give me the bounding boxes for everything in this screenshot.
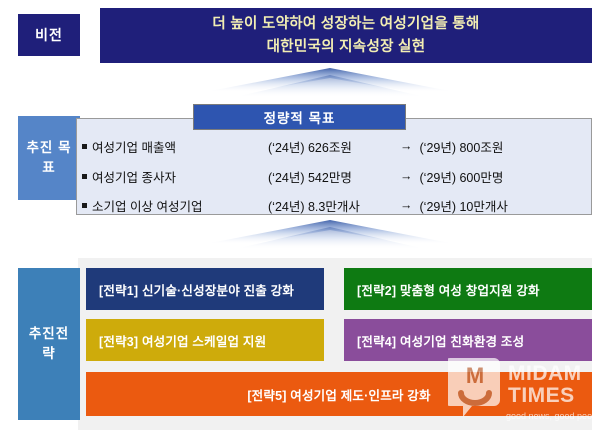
goal-row: 여성기업 종사자 (‘24년) 542만명 → (‘29년) 600만명 xyxy=(82,163,587,189)
bullet-icon xyxy=(82,174,87,179)
goal-baseline-value: (‘24년) 542만명 xyxy=(268,167,400,186)
goal-baseline-value: (‘24년) 626조원 xyxy=(268,137,400,156)
arrow-right-icon: → xyxy=(400,139,413,153)
vision-label: 비전 xyxy=(18,14,80,56)
bullet-icon xyxy=(82,203,87,208)
strategy-box-5: [전략5] 여성기업 제도·인프라 강화 xyxy=(86,372,592,416)
goal-name: 여성기업 매출액 xyxy=(92,137,268,156)
goal-target-value: (‘29년) 800조원 xyxy=(420,137,504,156)
strategy-label: 추진전 략 xyxy=(18,268,80,420)
goal-row: 여성기업 매출액 (‘24년) 626조원 → (‘29년) 800조원 xyxy=(82,133,587,159)
goal-row: 소기업 이상 여성기업 (‘24년) 8.3만개사 → (‘29년) 10만개사 xyxy=(82,192,587,218)
strategy-box-1: [전략1] 신기술·신성장분야 진출 강화 xyxy=(86,268,324,310)
goals-label: 추진 목 표 xyxy=(18,116,80,200)
goal-target-value: (‘29년) 10만개사 xyxy=(420,196,508,215)
strategy-box-3: [전략3] 여성기업 스케일업 지원 xyxy=(86,319,324,361)
goal-name: 여성기업 종사자 xyxy=(92,167,268,186)
down-chevron-icon-2 xyxy=(205,218,455,251)
goals-panel-header: 정량적 목표 xyxy=(193,104,406,130)
strategy-label-line-1: 추진전 xyxy=(29,324,69,344)
infographic-canvas: 비전 더 높이 도약하여 성장하는 여성기업을 통해 대한민국의 지속성장 실현… xyxy=(0,0,607,435)
goal-name: 소기업 이상 여성기업 xyxy=(92,196,268,215)
strategy-label-line-2: 략 xyxy=(29,344,69,364)
arrow-right-icon: → xyxy=(400,169,413,183)
arrow-right-icon: → xyxy=(400,198,413,212)
vision-line-2: 대한민국의 지속성장 실현 xyxy=(212,36,479,58)
down-chevron-icon-1 xyxy=(205,66,455,99)
strategy-box-4: [전략4] 여성기업 친화환경 조성 xyxy=(344,319,592,361)
goals-label-line-1: 추진 목 xyxy=(26,138,71,158)
goal-target-value: (‘29년) 600만명 xyxy=(420,167,504,186)
bullet-icon xyxy=(82,144,87,149)
vision-banner: 더 높이 도약하여 성장하는 여성기업을 통해 대한민국의 지속성장 실현 xyxy=(100,8,592,63)
vision-line-1: 더 높이 도약하여 성장하는 여성기업을 통해 xyxy=(212,13,479,35)
goal-baseline-value: (‘24년) 8.3만개사 xyxy=(268,196,400,215)
goals-label-line-2: 표 xyxy=(26,158,71,178)
strategy-box-2: [전략2] 맞춤형 여성 창업지원 강화 xyxy=(344,268,592,310)
